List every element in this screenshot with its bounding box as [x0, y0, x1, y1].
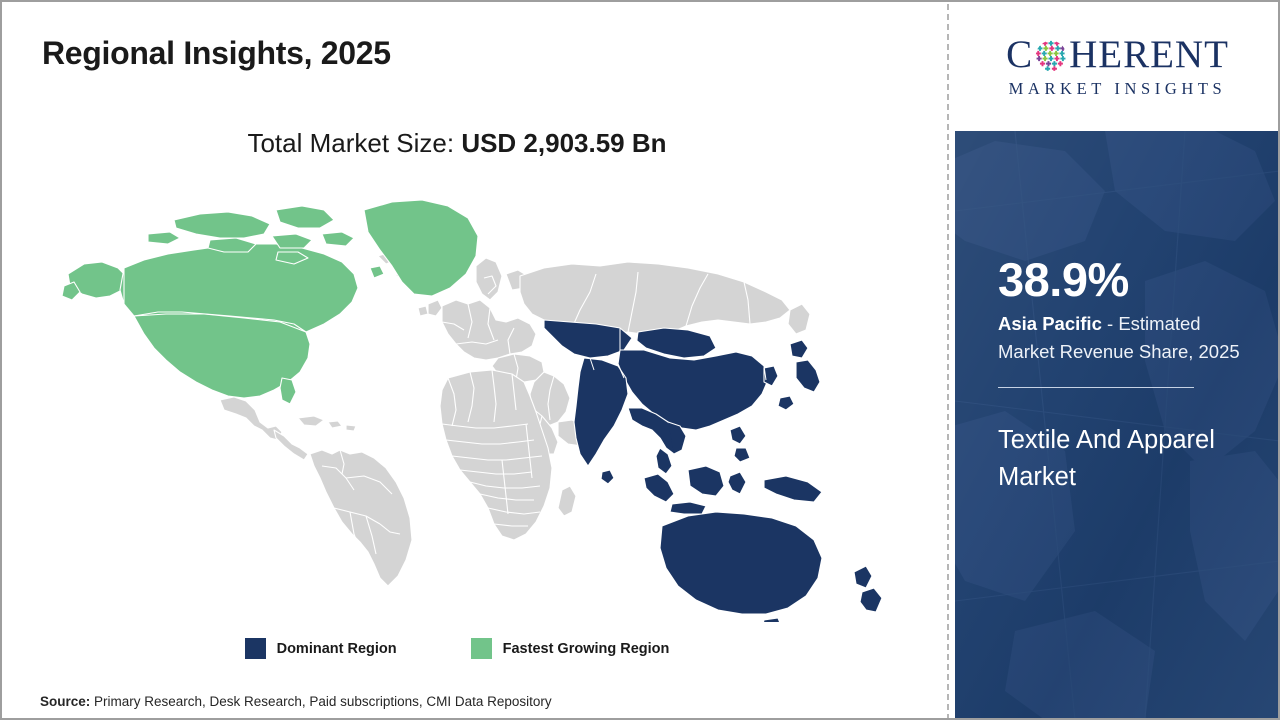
legend-item-dominant: Dominant Region: [245, 638, 397, 659]
market-size-label: Total Market Size:: [247, 128, 461, 158]
legend-label-fastest-growing: Fastest Growing Region: [503, 641, 670, 657]
total-market-size: Total Market Size: USD 2,903.59 Bn: [2, 128, 912, 159]
panel-divider-rule: [998, 387, 1194, 388]
market-name: Textile And Apparel Market: [998, 422, 1248, 496]
legend-label-dominant: Dominant Region: [277, 641, 397, 657]
source-label: Source:: [40, 694, 90, 709]
source-text: Primary Research, Desk Research, Paid su…: [90, 694, 551, 709]
market-size-value: USD 2,903.59 Bn: [461, 128, 666, 158]
revenue-share-percent: 38.9%: [998, 256, 1248, 304]
map-legend: Dominant Region Fastest Growing Region: [2, 638, 912, 659]
legend-swatch-dominant: [245, 638, 266, 659]
stat-panel-content: 38.9% Asia Pacific - Estimated Market Re…: [998, 256, 1248, 497]
infographic-root: Regional Insights, 2025 Total Market Siz…: [0, 0, 1280, 720]
world-map-svg: [24, 182, 904, 622]
logo-wordmark: C: [1006, 35, 1229, 74]
legend-swatch-fastest-growing: [471, 638, 492, 659]
logo-subtitle: MARKET INSIGHTS: [1009, 79, 1227, 99]
brand-logo: C: [955, 2, 1280, 131]
vertical-divider: [947, 4, 949, 720]
revenue-share-caption: Asia Pacific - Estimated Market Revenue …: [998, 310, 1248, 366]
left-content-pane: Regional Insights, 2025 Total Market Siz…: [2, 2, 949, 718]
stat-panel: 38.9% Asia Pacific - Estimated Market Re…: [955, 131, 1280, 720]
world-map: [24, 182, 904, 622]
globe-icon: [1034, 39, 1068, 73]
logo-letter-c: C: [1006, 35, 1033, 74]
source-note: Source: Primary Research, Desk Research,…: [40, 694, 552, 709]
dominant-regions: [544, 320, 882, 622]
region-name: Asia Pacific: [998, 313, 1102, 334]
logo-word-rest: HERENT: [1069, 35, 1229, 74]
page-title: Regional Insights, 2025: [42, 35, 391, 72]
legend-item-fastest-growing: Fastest Growing Region: [471, 638, 670, 659]
